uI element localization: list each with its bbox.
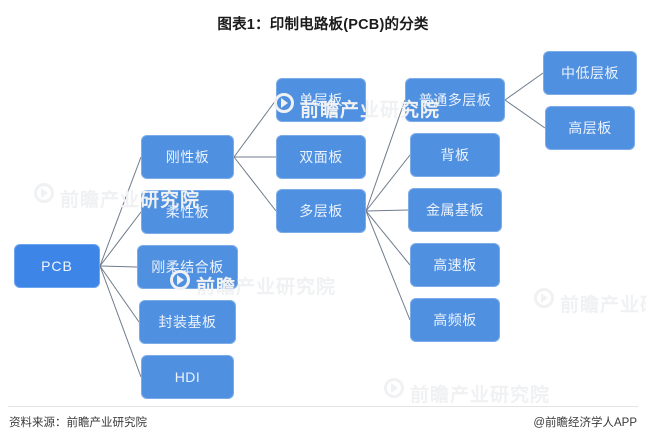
- pcb-classification-diagram: PCB刚性板柔性板刚柔结合板封装基板HDI单层板双面板多层板普通多层板背板金属基…: [0, 0, 646, 410]
- node-pcb[interactable]: PCB: [14, 244, 100, 288]
- node-package[interactable]: 封装基板: [139, 300, 236, 344]
- node-double[interactable]: 双面板: [276, 135, 366, 179]
- edge-pcb-to-rigid-flex: [100, 266, 137, 267]
- node-metal-base[interactable]: 金属基板: [408, 188, 502, 232]
- watermark-logo-icon: [534, 288, 554, 308]
- node-label-hdi: HDI: [175, 370, 201, 384]
- footer-divider: [8, 406, 638, 407]
- brand-note: @前瞻经济学人APP: [533, 414, 637, 430]
- node-high-speed[interactable]: 高速板: [410, 243, 500, 287]
- watermark-text: 前瞻产业研究院: [560, 290, 646, 317]
- edge-multi-to-backplane: [366, 155, 410, 211]
- watermark-logo-icon: [34, 183, 54, 203]
- source-note: 资料来源：前瞻产业研究院: [9, 414, 147, 430]
- node-rigid-flex[interactable]: 刚柔结合板: [137, 245, 238, 289]
- node-single[interactable]: 单层板: [276, 78, 366, 122]
- node-label-high-layer: 高层板: [568, 121, 612, 135]
- node-rigid[interactable]: 刚性板: [141, 135, 234, 179]
- edge-ordinary-multi-to-low-mid-layer: [505, 73, 543, 100]
- node-backplane[interactable]: 背板: [410, 133, 500, 177]
- node-multi[interactable]: 多层板: [276, 189, 366, 233]
- edge-pcb-to-package: [100, 266, 139, 322]
- edge-multi-to-ordinary-multi: [366, 100, 405, 211]
- edge-pcb-to-flexible: [100, 212, 141, 266]
- watermark-logo-icon: [384, 378, 404, 398]
- node-label-single: 单层板: [299, 93, 343, 107]
- figure-container: 图表1：印制电路板(PCB)的分类 PCB刚性板柔性板刚柔结合板封装基板HDI单…: [0, 0, 646, 448]
- edge-multi-to-high-speed: [366, 211, 410, 265]
- node-label-package: 封装基板: [159, 315, 217, 329]
- node-label-high-speed: 高速板: [433, 258, 477, 272]
- node-high-layer[interactable]: 高层板: [545, 106, 635, 150]
- edge-ordinary-multi-to-high-layer: [505, 100, 545, 128]
- node-label-low-mid-layer: 中低层板: [561, 66, 619, 80]
- node-label-double: 双面板: [299, 150, 343, 164]
- node-label-rigid: 刚性板: [166, 150, 210, 164]
- edge-multi-to-metal-base: [366, 210, 408, 211]
- edge-multi-to-high-freq: [366, 211, 410, 320]
- node-label-metal-base: 金属基板: [426, 203, 484, 217]
- node-label-flexible: 柔性板: [166, 205, 210, 219]
- node-high-freq[interactable]: 高频板: [410, 298, 500, 342]
- edge-pcb-to-rigid: [100, 157, 141, 266]
- node-label-pcb: PCB: [41, 259, 73, 273]
- node-label-rigid-flex: 刚柔结合板: [151, 260, 224, 274]
- watermark-text: 前瞻产业研究院: [410, 380, 550, 407]
- node-ordinary-multi[interactable]: 普通多层板: [405, 78, 505, 122]
- node-label-ordinary-multi: 普通多层板: [419, 93, 492, 107]
- edge-pcb-to-hdi: [100, 266, 141, 377]
- node-hdi[interactable]: HDI: [141, 355, 234, 399]
- node-low-mid-layer[interactable]: 中低层板: [543, 51, 637, 95]
- node-label-backplane: 背板: [441, 148, 470, 162]
- edge-rigid-to-single: [234, 100, 276, 157]
- node-flexible[interactable]: 柔性板: [141, 190, 234, 234]
- edge-rigid-to-multi: [234, 157, 276, 211]
- node-label-multi: 多层板: [299, 204, 343, 218]
- node-label-high-freq: 高频板: [433, 313, 477, 327]
